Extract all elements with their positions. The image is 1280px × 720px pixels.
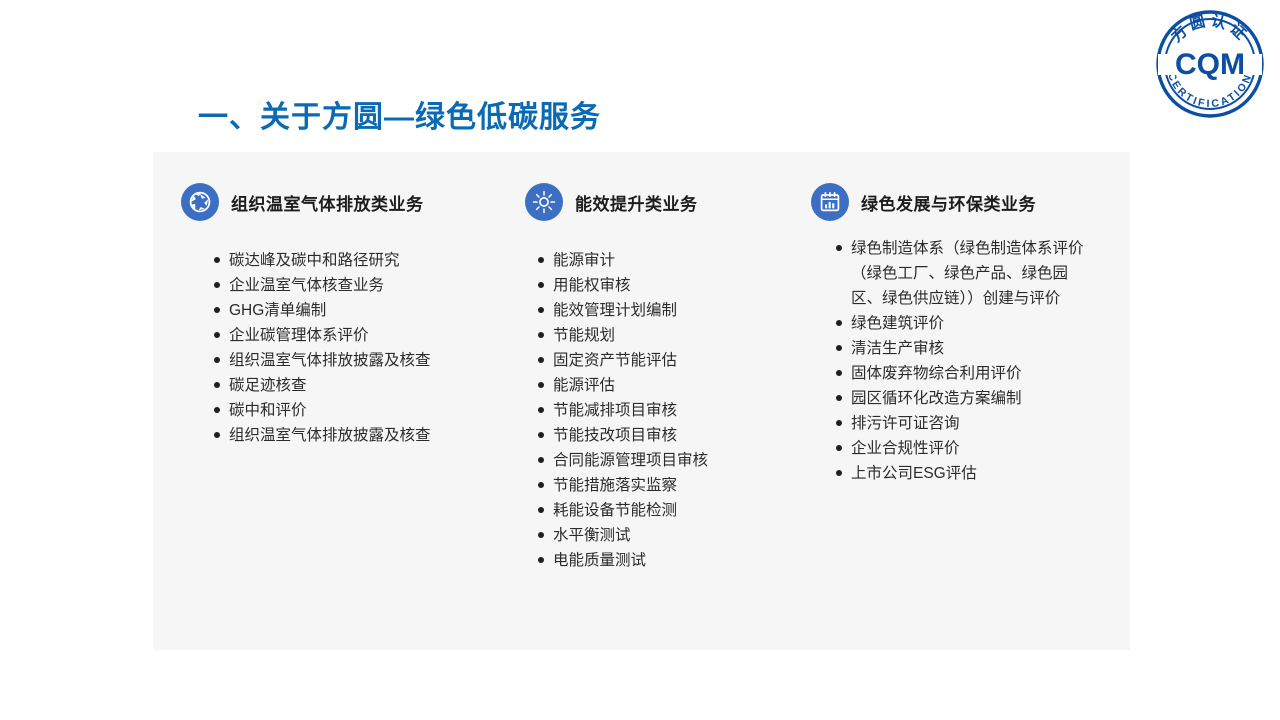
list-item: 上市公司ESG评估 [835,461,1090,486]
sun-icon [525,183,563,221]
list-item: 企业碳管理体系评价 [213,323,513,348]
page-title: 一、关于方圆—绿色低碳服务 [198,92,601,136]
list-item: 能源审计 [537,248,803,273]
slide-root: 方圆认证 CERTIFICATION CQM 一、关于方圆—绿色低碳服务 [0,0,1280,720]
list-item: 碳足迹核查 [213,373,513,398]
cqm-certification-logo: 方圆认证 CERTIFICATION CQM [1150,4,1270,124]
calendar-chart-icon [811,183,849,221]
service-columns: 组织温室气体排放类业务 碳达峰及碳中和路径研究 企业温室气体核查业务 GHG清单… [153,152,1130,650]
svg-text:CQM: CQM [1175,48,1245,81]
aperture-icon [181,183,219,221]
list-item: GHG清单编制 [213,298,513,323]
column-title: 绿色发展与环保类业务 [861,190,1036,215]
content-panel: 组织温室气体排放类业务 碳达峰及碳中和路径研究 企业温室气体核查业务 GHG清单… [153,152,1130,650]
list-item: 节能技改项目审核 [537,423,803,448]
list-item: 企业温室气体核查业务 [213,273,513,298]
column-header: 能效提升类业务 [525,182,803,222]
list-item: 节能措施落实监察 [537,473,803,498]
service-column-greenhouse-gas: 组织温室气体排放类业务 碳达峰及碳中和路径研究 企业温室气体核查业务 GHG清单… [153,152,513,650]
column-header: 组织温室气体排放类业务 [181,182,513,222]
column-title: 能效提升类业务 [575,190,698,215]
list-item: 园区循环化改造方案编制 [835,386,1090,411]
list-item: 能效管理计划编制 [537,298,803,323]
list-item: 节能规划 [537,323,803,348]
list-item: 绿色建筑评价 [835,311,1090,336]
list-item: 绿色制造体系（绿色制造体系评价（绿色工厂、绿色产品、绿色园区、绿色供应链））创建… [835,236,1090,311]
list-item: 排污许可证咨询 [835,411,1090,436]
list-item: 组织温室气体排放披露及核查 [213,423,513,448]
list-item: 电能质量测试 [537,548,803,573]
list-item: 水平衡测试 [537,523,803,548]
list-item: 耗能设备节能检测 [537,498,803,523]
service-list: 能源审计 用能权审核 能效管理计划编制 节能规划 固定资产节能评估 能源评估 节… [537,248,803,573]
svg-text:方圆认证: 方圆认证 [1168,11,1253,45]
list-item: 碳达峰及碳中和路径研究 [213,248,513,273]
service-list: 绿色制造体系（绿色制造体系评价（绿色工厂、绿色产品、绿色园区、绿色供应链））创建… [835,236,1130,486]
service-column-green-development: 绿色发展与环保类业务 绿色制造体系（绿色制造体系评价（绿色工厂、绿色产品、绿色园… [803,152,1130,650]
list-item: 用能权审核 [537,273,803,298]
column-title: 组织温室气体排放类业务 [231,190,424,215]
list-item: 节能减排项目审核 [537,398,803,423]
service-column-energy-efficiency: 能效提升类业务 能源审计 用能权审核 能效管理计划编制 节能规划 固定资产节能评… [513,152,803,650]
list-item: 合同能源管理项目审核 [537,448,803,473]
column-header: 绿色发展与环保类业务 [811,182,1130,222]
list-item: 固定资产节能评估 [537,348,803,373]
list-item: 组织温室气体排放披露及核查 [213,348,513,373]
list-item: 能源评估 [537,373,803,398]
list-item: 企业合规性评价 [835,436,1090,461]
list-item: 清洁生产审核 [835,336,1090,361]
service-list: 碳达峰及碳中和路径研究 企业温室气体核查业务 GHG清单编制 企业碳管理体系评价… [213,248,513,448]
list-item: 固体废弃物综合利用评价 [835,361,1090,386]
list-item: 碳中和评价 [213,398,513,423]
